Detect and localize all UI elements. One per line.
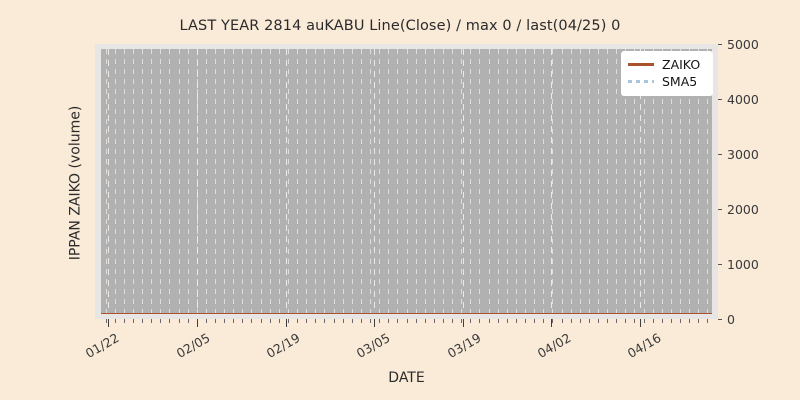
x-tick-minor [343,319,344,323]
x-axis-tick-labels: 01/2202/0502/1903/0503/1904/0204/16 [95,330,718,370]
x-tick-minor [361,319,362,323]
x-tick-minor [224,319,225,323]
x-tick-minor [151,319,152,323]
x-tick-minor [388,319,389,323]
x-tick-minor [470,319,471,323]
x-tick-minor [443,319,444,323]
chart-title: LAST YEAR 2814 auKABU Line(Close) / max … [0,18,800,34]
x-tick-minor [324,319,325,323]
x-tick-minor [242,319,243,323]
y-axis-tick-label: 4000 [727,92,759,107]
y-axis-title: IPPAN ZAIKO (volume) [68,46,84,321]
x-tick-minor [498,319,499,323]
x-tick-minor [306,319,307,323]
x-tick-minor [516,319,517,323]
x-tick-minor [653,319,654,323]
legend-item-sma5[interactable]: SMA5 [628,73,706,90]
x-tick-minor [352,319,353,323]
x-tick-major [197,319,198,327]
x-tick-major [108,319,109,327]
legend-label-sma5: SMA5 [662,74,697,89]
x-tick-minor [562,319,563,323]
x-tick-minor [461,319,462,323]
x-tick-minor [124,319,125,323]
x-axis-tick-label: 03/19 [436,330,483,366]
x-tick-minor [616,319,617,323]
series-line-zaiko [101,313,712,314]
x-tick-minor [142,319,143,323]
x-tick-minor [133,319,134,323]
x-tick-minor [288,319,289,323]
y-tick-mark-icon [718,154,722,155]
x-tick-minor [479,319,480,323]
legend-item-zaiko[interactable]: ZAIKO [628,56,706,73]
y-axis-tick: 0 [718,312,735,326]
x-tick-minor [160,319,161,323]
y-axis-tick: 5000 [718,37,759,51]
x-tick-minor [407,319,408,323]
x-tick-minor [206,319,207,323]
x-tick-minor [106,319,107,323]
x-tick-minor [644,319,645,323]
y-tick-mark-icon [718,319,722,320]
x-axis-tick-label: 03/05 [345,330,392,366]
y-tick-mark-icon [718,209,722,210]
y-axis: 010002000300040005000 [718,44,798,319]
x-tick-minor [543,319,544,323]
x-axis-tick-label: 02/19 [255,330,302,366]
y-axis-tick: 2000 [718,202,759,216]
x-axis-tick-label: 01/22 [74,330,121,366]
x-tick-minor [179,319,180,323]
legend-dotted-icon-sma5 [628,80,654,83]
x-tick-minor [261,319,262,323]
x-tick-minor [397,319,398,323]
x-tick-minor [251,319,252,323]
x-tick-major [286,319,287,327]
x-tick-minor [370,319,371,323]
x-tick-minor [452,319,453,323]
chart-legend: ZAIKO SMA5 [621,51,713,96]
x-tick-minor [552,319,553,323]
x-tick-minor [425,319,426,323]
y-axis-tick: 1000 [718,257,759,271]
x-tick-minor [315,319,316,323]
x-tick-major [640,319,641,327]
x-tick-minor [571,319,572,323]
y-axis-tick: 3000 [718,147,759,161]
x-axis-tick-label: 04/02 [526,330,573,366]
x-tick-minor [489,319,490,323]
x-tick-minor [625,319,626,323]
y-tick-mark-icon [718,44,722,45]
x-tick-minor [698,319,699,323]
y-tick-mark-icon [718,99,722,100]
x-tick-minor [707,319,708,323]
x-tick-minor [270,319,271,323]
y-axis-tick-label: 0 [727,312,735,327]
x-tick-minor [680,319,681,323]
x-axis-tick-label: 04/16 [616,330,663,366]
x-tick-minor [279,319,280,323]
chart-figure: LAST YEAR 2814 auKABU Line(Close) / max … [0,0,800,400]
y-axis-tick-label: 3000 [727,147,759,162]
y-axis-tick: 4000 [718,92,759,106]
x-tick-minor [169,319,170,323]
x-tick-minor [507,319,508,323]
x-tick-minor [434,319,435,323]
x-tick-minor [416,319,417,323]
x-tick-minor [379,319,380,323]
x-axis-tick-label: 02/05 [165,330,212,366]
x-tick-minor [525,319,526,323]
x-axis-title: DATE [95,370,718,386]
x-tick-minor [215,319,216,323]
x-tick-minor [233,319,234,323]
x-tick-minor [589,319,590,323]
x-tick-major [551,319,552,327]
x-tick-minor [534,319,535,323]
y-axis-tick-label: 1000 [727,257,759,272]
x-tick-minor [115,319,116,323]
x-tick-minor [598,319,599,323]
x-tick-minor [607,319,608,323]
x-tick-minor [334,319,335,323]
legend-label-zaiko: ZAIKO [662,57,700,72]
legend-line-icon-zaiko [628,63,654,66]
y-tick-mark-icon [718,264,722,265]
x-tick-minor [580,319,581,323]
x-tick-minor [662,319,663,323]
x-tick-minor [634,319,635,323]
y-axis-tick-label: 5000 [727,37,759,52]
x-tick-minor [671,319,672,323]
x-tick-major [463,319,464,327]
x-tick-minor [188,319,189,323]
x-tick-minor [689,319,690,323]
x-tick-major [374,319,375,327]
y-axis-tick-label: 2000 [727,202,759,217]
x-axis-ticks [95,319,718,328]
x-tick-minor [297,319,298,323]
